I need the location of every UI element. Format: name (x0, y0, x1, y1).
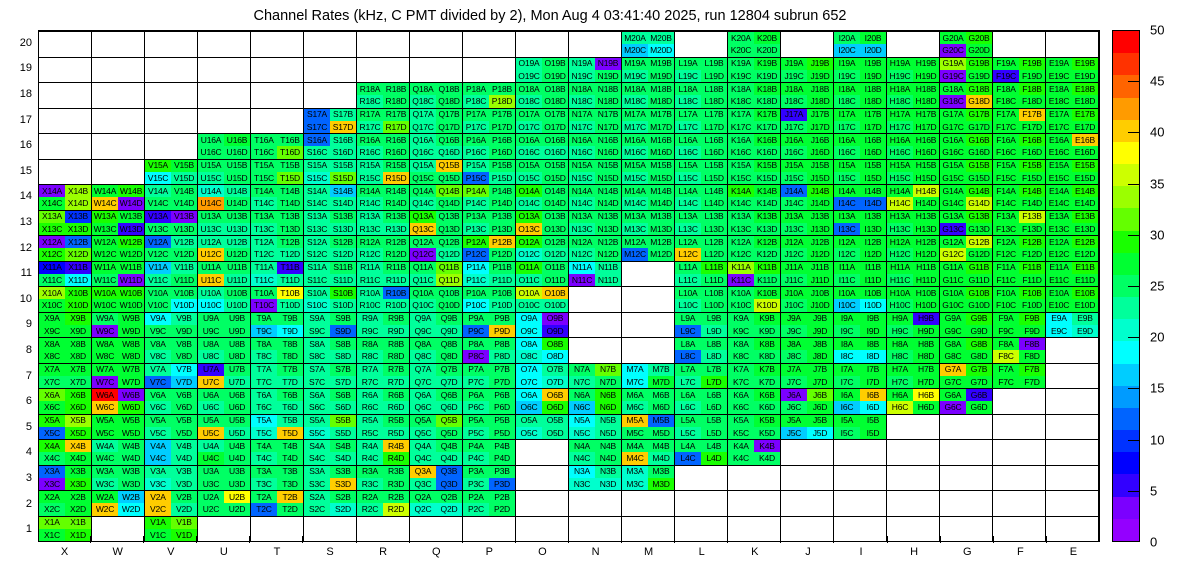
heatmap-cell-E13[interactable]: E13AE13BE13CE13D (1046, 210, 1099, 236)
heatmap-cell-E10[interactable]: E10AE10BE10CE10D (1046, 286, 1099, 312)
heatmap-cell-G20[interactable]: G20AG20BG20CG20D (940, 31, 993, 57)
channel-N6C[interactable]: N6C (569, 401, 595, 413)
channel-S5D[interactable]: S5D (330, 427, 356, 439)
channel-Q8B[interactable]: Q8B (436, 338, 462, 350)
channel-O15A[interactable]: O15A (516, 160, 542, 172)
heatmap-cell-R17[interactable]: R17AR17BR17CR17D (357, 108, 410, 134)
channel-W11D[interactable]: W11D (118, 274, 144, 286)
channel-P15C[interactable]: P15C (463, 172, 489, 184)
heatmap-cell-K9[interactable]: K9AK9BK9CK9D (728, 312, 781, 338)
heatmap-cell-S13[interactable]: S13AS13BS13CS13D (304, 210, 357, 236)
channel-X10D[interactable]: X10D (65, 299, 91, 311)
channel-S13A[interactable]: S13A (304, 211, 330, 223)
channel-J14D[interactable]: J14D (807, 197, 833, 209)
channel-G20C[interactable]: G20C (940, 44, 966, 56)
heatmap-cell-R4[interactable]: R4AR4BR4CR4D (357, 439, 410, 465)
channel-H15D[interactable]: H15D (913, 172, 939, 184)
heatmap-cell-Q5[interactable]: Q5AQ5BQ5CQ5D (410, 414, 463, 440)
channel-O11A[interactable]: O11A (516, 262, 542, 274)
channel-K12C[interactable]: K12C (728, 248, 754, 260)
channel-O12B[interactable]: O12B (542, 236, 568, 248)
channel-N12C[interactable]: N12C (569, 248, 595, 260)
channel-Q2B[interactable]: Q2B (436, 491, 462, 503)
channel-R18A[interactable]: R18A (357, 83, 383, 95)
channel-Q13D[interactable]: Q13D (436, 223, 462, 235)
channel-H7B[interactable]: H7B (913, 364, 939, 376)
channel-X13D[interactable]: X13D (65, 223, 91, 235)
channel-Q12A[interactable]: Q12A (410, 236, 436, 248)
channel-E15A[interactable]: E15A (1046, 160, 1072, 172)
channel-O5A[interactable]: O5A (516, 415, 542, 427)
channel-T3B[interactable]: T3B (277, 466, 303, 478)
channel-O13A[interactable]: O13A (516, 211, 542, 223)
channel-U2B[interactable]: U2B (224, 491, 250, 503)
channel-P9D[interactable]: P9D (489, 325, 515, 337)
channel-X3B[interactable]: X3B (65, 466, 91, 478)
channel-I7B[interactable]: I7B (860, 364, 886, 376)
channel-X2B[interactable]: X2B (65, 491, 91, 503)
channel-L7A[interactable]: L7A (675, 364, 701, 376)
channel-E15D[interactable]: E15D (1072, 172, 1098, 184)
heatmap-cell-O6[interactable]: O6AO6BO6CO6D (516, 388, 569, 414)
channel-S16D[interactable]: S16D (330, 146, 356, 158)
channel-P12A[interactable]: P12A (463, 236, 489, 248)
channel-Q7C[interactable]: Q7C (410, 376, 436, 388)
heatmap-cell-H14[interactable]: H14AH14BH14CH14D (887, 184, 940, 210)
channel-R15A[interactable]: R15A (357, 160, 383, 172)
channel-N16C[interactable]: N16C (569, 146, 595, 158)
channel-R6B[interactable]: R6B (383, 389, 409, 401)
channel-I17D[interactable]: I17D (860, 121, 886, 133)
heatmap-cell-G6[interactable]: G6AG6BG6CG6D (940, 388, 993, 414)
channel-L6A[interactable]: L6A (675, 389, 701, 401)
channel-V15D[interactable]: V15D (171, 172, 197, 184)
heatmap-cell-X3[interactable]: X3AX3BX3CX3D (39, 465, 92, 491)
channel-R12D[interactable]: R12D (383, 248, 409, 260)
channel-P7A[interactable]: P7A (463, 364, 489, 376)
channel-G13B[interactable]: G13B (966, 211, 992, 223)
channel-Q10A[interactable]: Q10A (410, 287, 436, 299)
channel-L15D[interactable]: L15D (701, 172, 727, 184)
channel-F19C[interactable]: F19C (993, 70, 1019, 82)
heatmap-cell-P3[interactable]: P3AP3BP3CP3D (463, 465, 516, 491)
channel-H18D[interactable]: H18D (913, 95, 939, 107)
channel-W2A[interactable]: W2A (92, 491, 118, 503)
channel-L8C[interactable]: L8C (675, 350, 701, 362)
channel-P18B[interactable]: P18B (489, 83, 515, 95)
heatmap-cell-J18[interactable]: J18AJ18BJ18CJ18D (781, 82, 834, 108)
channel-X7C[interactable]: X7C (39, 376, 65, 388)
channel-T5A[interactable]: T5A (251, 415, 277, 427)
channel-G18C[interactable]: G18C (940, 95, 966, 107)
channel-R18D[interactable]: R18D (383, 95, 409, 107)
channel-T11D[interactable]: T11D (277, 274, 303, 286)
channel-W11A[interactable]: W11A (92, 262, 118, 274)
heatmap-cell-M17[interactable]: M17AM17BM17CM17D (622, 108, 675, 134)
channel-I11B[interactable]: I11B (860, 262, 886, 274)
channel-I16A[interactable]: I16A (834, 134, 860, 146)
channel-U14A[interactable]: U14A (198, 185, 224, 197)
channel-F18C[interactable]: F18C (993, 95, 1019, 107)
channel-K5C[interactable]: K5C (728, 427, 754, 439)
channel-I14B[interactable]: I14B (860, 185, 886, 197)
channel-S9A[interactable]: S9A (304, 313, 330, 325)
heatmap-cell-G15[interactable]: G15AG15BG15CG15D (940, 159, 993, 185)
channel-X2A[interactable]: X2A (39, 491, 65, 503)
channel-V4A[interactable]: V4A (145, 440, 171, 452)
heatmap-cell-V9[interactable]: V9AV9BV9CV9D (145, 312, 198, 338)
channel-O19B[interactable]: O19B (542, 58, 568, 70)
channel-N17A[interactable]: N17A (569, 109, 595, 121)
channel-W8A[interactable]: W8A (92, 338, 118, 350)
channel-V3D[interactable]: V3D (171, 478, 197, 490)
channel-P3B[interactable]: P3B (489, 466, 515, 478)
channel-G16D[interactable]: G16D (966, 146, 992, 158)
channel-T7D[interactable]: T7D (277, 376, 303, 388)
channel-I6B[interactable]: I6B (860, 389, 886, 401)
heatmap-cell-T16[interactable]: T16AT16BT16CT16D (251, 133, 304, 159)
channel-K7D[interactable]: K7D (754, 376, 780, 388)
channel-Q2A[interactable]: Q2A (410, 491, 436, 503)
channel-U14D[interactable]: U14D (224, 197, 250, 209)
channel-Q18D[interactable]: Q18D (436, 95, 462, 107)
channel-J8C[interactable]: J8C (781, 350, 807, 362)
heatmap-cell-M7[interactable]: M7AM7BM7CM7D (622, 363, 675, 389)
channel-N14C[interactable]: N14C (569, 197, 595, 209)
channel-F10C[interactable]: F10C (993, 299, 1019, 311)
channel-I8B[interactable]: I8B (860, 338, 886, 350)
channel-P15A[interactable]: P15A (463, 160, 489, 172)
heatmap-cell-X5[interactable]: X5AX5BX5CX5D (39, 414, 92, 440)
heatmap-cell-R15[interactable]: R15AR15BR15CR15D (357, 159, 410, 185)
channel-P14D[interactable]: P14D (489, 197, 515, 209)
heatmap-cell-G17[interactable]: G17AG17BG17CG17D (940, 108, 993, 134)
channel-W14A[interactable]: W14A (92, 185, 118, 197)
heatmap-cell-G16[interactable]: G16AG16BG16CG16D (940, 133, 993, 159)
heatmap-cell-R2[interactable]: R2AR2BR2CR2D (357, 490, 410, 516)
channel-R16B[interactable]: R16B (383, 134, 409, 146)
channel-Q2D[interactable]: Q2D (436, 503, 462, 515)
channel-U10A[interactable]: U10A (198, 287, 224, 299)
channel-W13A[interactable]: W13A (92, 211, 118, 223)
heatmap-cell-O10[interactable]: O10AO10BO10CO10D (516, 286, 569, 312)
channel-Q10C[interactable]: Q10C (410, 299, 436, 311)
heatmap-cell-Q6[interactable]: Q6AQ6BQ6CQ6D (410, 388, 463, 414)
heatmap-cell-K19[interactable]: K19AK19BK19CK19D (728, 57, 781, 83)
channel-N11B[interactable]: N11B (595, 262, 621, 274)
channel-G17D[interactable]: G17D (966, 121, 992, 133)
heatmap-cell-J7[interactable]: J7AJ7BJ7CJ7D (781, 363, 834, 389)
channel-X7B[interactable]: X7B (65, 364, 91, 376)
channel-S15C[interactable]: S15C (304, 172, 330, 184)
heatmap-cell-W9[interactable]: W9AW9BW9CW9D (92, 312, 145, 338)
channel-V14D[interactable]: V14D (171, 197, 197, 209)
channel-S13B[interactable]: S13B (330, 211, 356, 223)
heatmap-cell-I13[interactable]: I13AI13BI13CI13D (834, 210, 887, 236)
heatmap-cell-L11[interactable]: L11AL11BL11CL11D (675, 261, 728, 287)
channel-T8B[interactable]: T8B (277, 338, 303, 350)
heatmap-cell-X11[interactable]: X11AX11BX11CX11D (39, 261, 92, 287)
channel-H19B[interactable]: H19B (913, 58, 939, 70)
channel-L19C[interactable]: L19C (675, 70, 701, 82)
channel-U12D[interactable]: U12D (224, 248, 250, 260)
channel-J13D[interactable]: J13D (807, 223, 833, 235)
channel-U13B[interactable]: U13B (224, 211, 250, 223)
channel-F12C[interactable]: F12C (993, 248, 1019, 260)
channel-O15D[interactable]: O15D (542, 172, 568, 184)
channel-K7B[interactable]: K7B (754, 364, 780, 376)
channel-U11D[interactable]: U11D (224, 274, 250, 286)
heatmap-cell-T10[interactable]: T10AT10BT10CT10D (251, 286, 304, 312)
channel-K11D[interactable]: K11D (754, 274, 780, 286)
channel-O10B[interactable]: O10B (542, 287, 568, 299)
channel-P14C[interactable]: P14C (463, 197, 489, 209)
channel-W3C[interactable]: W3C (92, 478, 118, 490)
channel-K5D[interactable]: K5D (754, 427, 780, 439)
heatmap-cell-F17[interactable]: F17AF17BF17CF17D (993, 108, 1046, 134)
channel-Q12C[interactable]: Q12C (410, 248, 436, 260)
channel-S8A[interactable]: S8A (304, 338, 330, 350)
channel-S12B[interactable]: S12B (330, 236, 356, 248)
channel-H8D[interactable]: H8D (913, 350, 939, 362)
channel-J15D[interactable]: J15D (807, 172, 833, 184)
channel-T3C[interactable]: T3C (251, 478, 277, 490)
channel-N19B[interactable]: N19B (595, 58, 621, 70)
channel-N16B[interactable]: N16B (595, 134, 621, 146)
channel-U6C[interactable]: U6C (198, 401, 224, 413)
heatmap-cell-P11[interactable]: P11AP11BP11CP11D (463, 261, 516, 287)
channel-K11A[interactable]: K11A (728, 262, 754, 274)
heatmap-cell-I17[interactable]: I17AI17BI17CI17D (834, 108, 887, 134)
channel-U16C[interactable]: U16C (198, 146, 224, 158)
heatmap-cell-N4[interactable]: N4AN4BN4CN4D (569, 439, 622, 465)
channel-N11D[interactable]: N11D (595, 274, 621, 286)
channel-P15B[interactable]: P15B (489, 160, 515, 172)
heatmap-cell-T7[interactable]: T7AT7BT7CT7D (251, 363, 304, 389)
channel-G10B[interactable]: G10B (966, 287, 992, 299)
heatmap-cell-L17[interactable]: L17AL17BL17CL17D (675, 108, 728, 134)
channel-P3D[interactable]: P3D (489, 478, 515, 490)
heatmap-cell-P14[interactable]: P14AP14BP14CP14D (463, 184, 516, 210)
channel-F15A[interactable]: F15A (993, 160, 1019, 172)
channel-Q7B[interactable]: Q7B (436, 364, 462, 376)
channel-U3D[interactable]: U3D (224, 478, 250, 490)
channel-L8D[interactable]: L8D (701, 350, 727, 362)
heatmap-cell-I15[interactable]: I15AI15BI15CI15D (834, 159, 887, 185)
channel-X10C[interactable]: X10C (39, 299, 65, 311)
channel-O12C[interactable]: O12C (516, 248, 542, 260)
channel-J6D[interactable]: J6D (807, 401, 833, 413)
channel-I12C[interactable]: I12C (834, 248, 860, 260)
channel-V14A[interactable]: V14A (145, 185, 171, 197)
channel-P10C[interactable]: P10C (463, 299, 489, 311)
channel-U6A[interactable]: U6A (198, 389, 224, 401)
heatmap-cell-G12[interactable]: G12AG12BG12CG12D (940, 235, 993, 261)
channel-I14D[interactable]: I14D (860, 197, 886, 209)
heatmap-cell-F16[interactable]: F16AF16BF16CF16D (993, 133, 1046, 159)
channel-V9D[interactable]: V9D (171, 325, 197, 337)
channel-I15A[interactable]: I15A (834, 160, 860, 172)
channel-X6D[interactable]: X6D (65, 401, 91, 413)
channel-E15C[interactable]: E15C (1046, 172, 1072, 184)
channel-M6A[interactable]: M6A (622, 389, 648, 401)
channel-J9A[interactable]: J9A (781, 313, 807, 325)
channel-P18D[interactable]: P18D (489, 95, 515, 107)
channel-G6B[interactable]: G6B (966, 389, 992, 401)
channel-I13D[interactable]: I13D (860, 223, 886, 235)
channel-O18C[interactable]: O18C (516, 95, 542, 107)
heatmap-cell-O11[interactable]: O11AO11BO11CO11D (516, 261, 569, 287)
channel-I20B[interactable]: I20B (860, 32, 886, 44)
heatmap-cell-M18[interactable]: M18AM18BM18CM18D (622, 82, 675, 108)
channel-F16B[interactable]: F16B (1019, 134, 1045, 146)
channel-N19C[interactable]: N19C (569, 70, 595, 82)
channel-J16D[interactable]: J16D (807, 146, 833, 158)
channel-O7B[interactable]: O7B (542, 364, 568, 376)
channel-F14C[interactable]: F14C (993, 197, 1019, 209)
channel-L5A[interactable]: L5A (675, 415, 701, 427)
heatmap-cell-R8[interactable]: R8AR8BR8CR8D (357, 337, 410, 363)
channel-Q15B[interactable]: Q15B (436, 160, 462, 172)
channel-F11B[interactable]: F11B (1019, 262, 1045, 274)
channel-S7D[interactable]: S7D (330, 376, 356, 388)
channel-I7C[interactable]: I7C (834, 376, 860, 388)
heatmap-cell-V5[interactable]: V5AV5BV5CV5D (145, 414, 198, 440)
channel-P16A[interactable]: P16A (463, 134, 489, 146)
channel-G16B[interactable]: G16B (966, 134, 992, 146)
channel-Q17B[interactable]: Q17B (436, 109, 462, 121)
channel-X3C[interactable]: X3C (39, 478, 65, 490)
channel-N5B[interactable]: N5B (595, 415, 621, 427)
channel-E13C[interactable]: E13C (1046, 223, 1072, 235)
channel-F12A[interactable]: F12A (993, 236, 1019, 248)
channel-S9B[interactable]: S9B (330, 313, 356, 325)
channel-W10D[interactable]: W10D (118, 299, 144, 311)
channel-W5B[interactable]: W5B (118, 415, 144, 427)
channel-F7D[interactable]: F7D (1019, 376, 1045, 388)
channel-G13D[interactable]: G13D (966, 223, 992, 235)
channel-M14B[interactable]: M14B (648, 185, 674, 197)
channel-R12B[interactable]: R12B (383, 236, 409, 248)
channel-G9B[interactable]: G9B (966, 313, 992, 325)
channel-L17D[interactable]: L17D (701, 121, 727, 133)
heatmap-cell-Q16[interactable]: Q16AQ16BQ16CQ16D (410, 133, 463, 159)
heatmap-cell-M4[interactable]: M4AM4BM4CM4D (622, 439, 675, 465)
heatmap-cell-R11[interactable]: R11AR11BR11CR11D (357, 261, 410, 287)
channel-P4B[interactable]: P4B (489, 440, 515, 452)
channel-N6B[interactable]: N6B (595, 389, 621, 401)
channel-M16A[interactable]: M16A (622, 134, 648, 146)
channel-K13A[interactable]: K13A (728, 211, 754, 223)
channel-V15B[interactable]: V15B (171, 160, 197, 172)
channel-J15B[interactable]: J15B (807, 160, 833, 172)
channel-J16C[interactable]: J16C (781, 146, 807, 158)
heatmap-cell-P13[interactable]: P13AP13BP13CP13D (463, 210, 516, 236)
channel-M13D[interactable]: M13D (648, 223, 674, 235)
channel-N18D[interactable]: N18D (595, 95, 621, 107)
heatmap-cell-E16[interactable]: E16AE16BE16CE16D (1046, 133, 1099, 159)
heatmap-cell-E14[interactable]: E14AE14BE14CE14D (1046, 184, 1099, 210)
heatmap-cell-Q4[interactable]: Q4AQ4BQ4CQ4D (410, 439, 463, 465)
heatmap-cell-U15[interactable]: U15AU15BU15CU15D (198, 159, 251, 185)
channel-X9C[interactable]: X9C (39, 325, 65, 337)
channel-K6B[interactable]: K6B (754, 389, 780, 401)
channel-T15C[interactable]: T15C (251, 172, 277, 184)
channel-Q5D[interactable]: Q5D (436, 427, 462, 439)
heatmap-cell-H19[interactable]: H19AH19BH19CH19D (887, 57, 940, 83)
channel-L17C[interactable]: L17C (675, 121, 701, 133)
heatmap-cell-G10[interactable]: G10AG10BG10CG10D (940, 286, 993, 312)
channel-S10D[interactable]: S10D (330, 299, 356, 311)
channel-M4D[interactable]: M4D (648, 452, 674, 464)
channel-R11C[interactable]: R11C (357, 274, 383, 286)
channel-T7B[interactable]: T7B (277, 364, 303, 376)
channel-Q13B[interactable]: Q13B (436, 211, 462, 223)
heatmap-cell-O13[interactable]: O13AO13BO13CO13D (516, 210, 569, 236)
channel-R6D[interactable]: R6D (383, 401, 409, 413)
channel-K16B[interactable]: K16B (754, 134, 780, 146)
channel-X14D[interactable]: X14D (65, 197, 91, 209)
channel-M6D[interactable]: M6D (648, 401, 674, 413)
channel-T7C[interactable]: T7C (251, 376, 277, 388)
channel-H15C[interactable]: H15C (887, 172, 913, 184)
heatmap-cell-P9[interactable]: P9AP9BP9CP9D (463, 312, 516, 338)
channel-V6A[interactable]: V6A (145, 389, 171, 401)
channel-O19C[interactable]: O19C (516, 70, 542, 82)
channel-Q10B[interactable]: Q10B (436, 287, 462, 299)
channel-L14C[interactable]: L14C (675, 197, 701, 209)
channel-I20C[interactable]: I20C (834, 44, 860, 56)
channel-N14B[interactable]: N14B (595, 185, 621, 197)
heatmap-cell-Q9[interactable]: Q9AQ9BQ9CQ9D (410, 312, 463, 338)
heatmap-cell-K17[interactable]: K17AK17BK17CK17D (728, 108, 781, 134)
channel-P4C[interactable]: P4C (463, 452, 489, 464)
channel-Q11D[interactable]: Q11D (436, 274, 462, 286)
channel-G12B[interactable]: G12B (966, 236, 992, 248)
channel-P6C[interactable]: P6C (463, 401, 489, 413)
channel-K4D[interactable]: K4D (754, 452, 780, 464)
channel-J8D[interactable]: J8D (807, 350, 833, 362)
channel-L7B[interactable]: L7B (701, 364, 727, 376)
heatmap-cell-I14[interactable]: I14AI14BI14CI14D (834, 184, 887, 210)
channel-K10D[interactable]: K10D (754, 299, 780, 311)
channel-K19C[interactable]: K19C (728, 70, 754, 82)
channel-T2B[interactable]: T2B (277, 491, 303, 503)
channel-S4B[interactable]: S4B (330, 440, 356, 452)
channel-K4B[interactable]: K4B (754, 440, 780, 452)
channel-W8B[interactable]: W8B (118, 338, 144, 350)
channel-H10C[interactable]: H10C (887, 299, 913, 311)
channel-P10B[interactable]: P10B (489, 287, 515, 299)
channel-F17A[interactable]: F17A (993, 109, 1019, 121)
channel-V15C[interactable]: V15C (145, 172, 171, 184)
channel-E16D[interactable]: E16D (1072, 146, 1098, 158)
channel-I16C[interactable]: I16C (834, 146, 860, 158)
channel-K12B[interactable]: K12B (754, 236, 780, 248)
channel-P16C[interactable]: P16C (463, 146, 489, 158)
channel-H8C[interactable]: H8C (887, 350, 913, 362)
channel-L4C[interactable]: L4C (675, 452, 701, 464)
channel-X12D[interactable]: X12D (65, 248, 91, 260)
channel-J11C[interactable]: J11C (781, 274, 807, 286)
channel-G8D[interactable]: G8D (966, 350, 992, 362)
channel-U8A[interactable]: U8A (198, 338, 224, 350)
heatmap-cell-H13[interactable]: H13AH13BH13CH13D (887, 210, 940, 236)
channel-U4A[interactable]: U4A (198, 440, 224, 452)
channel-X5B[interactable]: X5B (65, 415, 91, 427)
channel-L8B[interactable]: L8B (701, 338, 727, 350)
channel-E9C[interactable]: E9C (1046, 325, 1072, 337)
